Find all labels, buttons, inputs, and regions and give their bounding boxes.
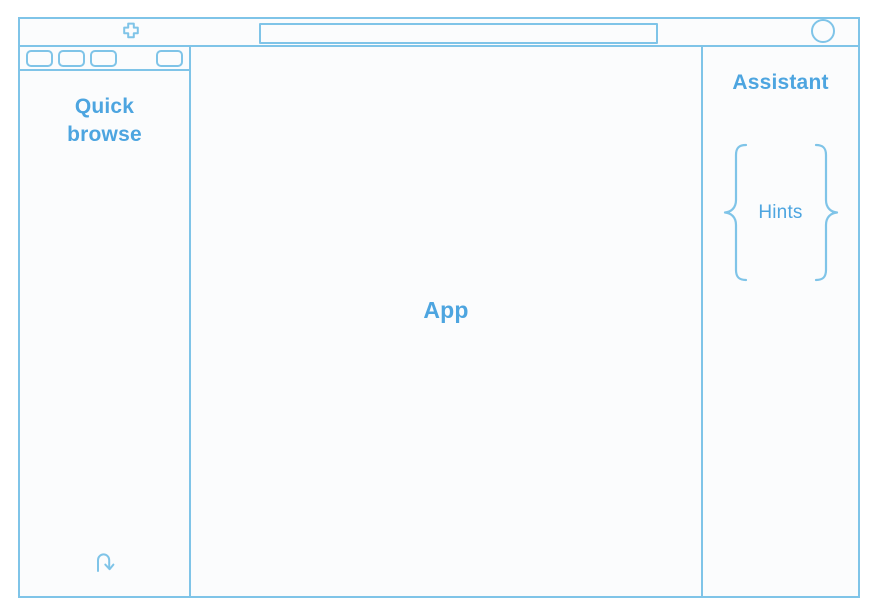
app-window: Quick browse App <box>18 17 860 598</box>
quick-browse-heading: Quick browse <box>20 93 189 150</box>
sidebar-panel: Quick browse <box>20 47 191 596</box>
app-canvas[interactable]: App <box>191 47 703 596</box>
return-button[interactable] <box>88 546 122 580</box>
u-turn-arrow-icon <box>90 547 120 580</box>
right-curly-brace <box>816 145 837 280</box>
window-body: Quick browse App <box>20 47 858 596</box>
sidebar-tabstrip <box>20 47 189 71</box>
plus-icon <box>119 21 143 48</box>
new-tab-button[interactable] <box>115 22 147 46</box>
left-curly-brace <box>725 145 746 280</box>
assistant-heading: Assistant <box>732 71 828 95</box>
address-bar-input[interactable] <box>259 23 658 44</box>
hints-label: Hints <box>758 202 802 224</box>
hints-group: Hints <box>719 140 843 285</box>
assistant-panel: Assistant Hints <box>703 47 858 596</box>
sidebar-tab-3[interactable] <box>90 50 117 67</box>
sidebar-content: Quick browse <box>20 71 189 596</box>
sidebar-footer <box>20 536 189 596</box>
titlebar <box>20 19 858 47</box>
sidebar-tab-1[interactable] <box>26 50 53 67</box>
circle-avatar-icon <box>810 18 836 49</box>
sidebar-tab-overflow[interactable] <box>156 50 183 67</box>
sidebar-tab-2[interactable] <box>58 50 85 67</box>
app-label: App <box>423 297 468 324</box>
account-avatar-button[interactable] <box>810 20 836 46</box>
